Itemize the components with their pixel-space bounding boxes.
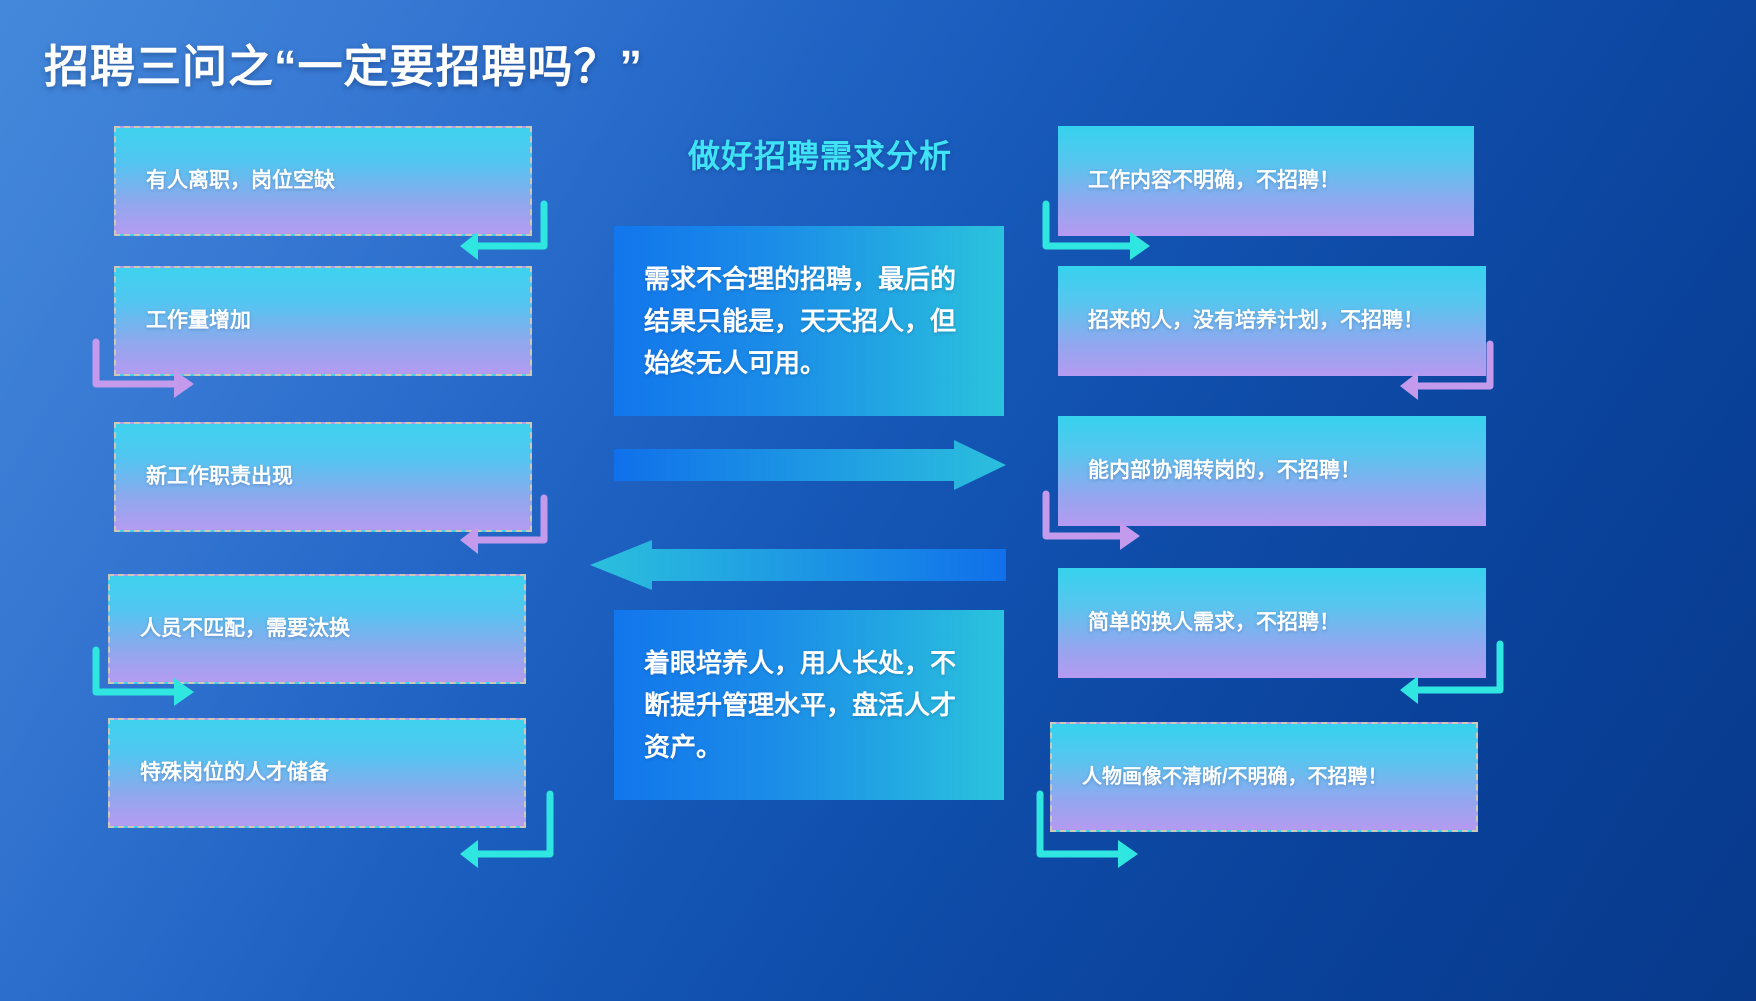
connector-left-5	[438, 790, 568, 880]
connector-right-4	[1378, 640, 1518, 716]
left-card-1-label: 有人离职，岗位空缺	[116, 166, 530, 196]
connector-right-2	[1378, 340, 1508, 412]
middle-arrow-left	[590, 540, 1006, 590]
middle-panel-1-label: 需求不合理的招聘，最后的结果只能是，天天招人，但始终无人可用。	[614, 258, 1004, 384]
left-card-5-label: 特殊岗位的人才储备	[110, 758, 524, 788]
middle-panel-2[interactable]: 着眼培养人，用人长处，不断提升管理水平，盘活人才资产。	[614, 610, 1004, 800]
connector-left-4	[82, 646, 212, 718]
middle-arrow-right	[614, 440, 1006, 490]
middle-heading: 做好招聘需求分析	[640, 131, 1000, 177]
right-card-2-label: 招来的人，没有培养计划，不招聘！	[1058, 306, 1486, 336]
right-card-3-label: 能内部协调转岗的，不招聘！	[1058, 456, 1486, 486]
right-card-5-label: 人物画像不清晰/不明确，不招聘！	[1052, 763, 1476, 792]
middle-panel-2-label: 着眼培养人，用人长处，不断提升管理水平，盘活人才资产。	[614, 642, 1004, 768]
connector-left-2	[82, 338, 212, 410]
connector-left-3	[438, 494, 558, 566]
connector-left-1	[438, 200, 558, 272]
slide-canvas: 招聘三问之“一定要招聘吗？” 做好招聘需求分析 有人离职，岗位空缺 工作量增加 …	[0, 0, 1756, 1001]
connector-right-3	[1032, 490, 1162, 562]
right-card-4-label: 简单的换人需求，不招聘！	[1058, 608, 1486, 638]
connector-right-1	[1032, 200, 1162, 272]
connector-right-5	[1026, 790, 1156, 880]
left-card-4-label: 人员不匹配，需要汰换	[110, 614, 524, 644]
left-card-2-label: 工作量增加	[116, 306, 530, 336]
page-title: 招聘三问之“一定要招聘吗？”	[44, 30, 643, 95]
left-card-3-label: 新工作职责出现	[116, 462, 530, 492]
middle-panel-1[interactable]: 需求不合理的招聘，最后的结果只能是，天天招人，但始终无人可用。	[614, 226, 1004, 416]
right-card-1-label: 工作内容不明确，不招聘！	[1058, 166, 1474, 196]
